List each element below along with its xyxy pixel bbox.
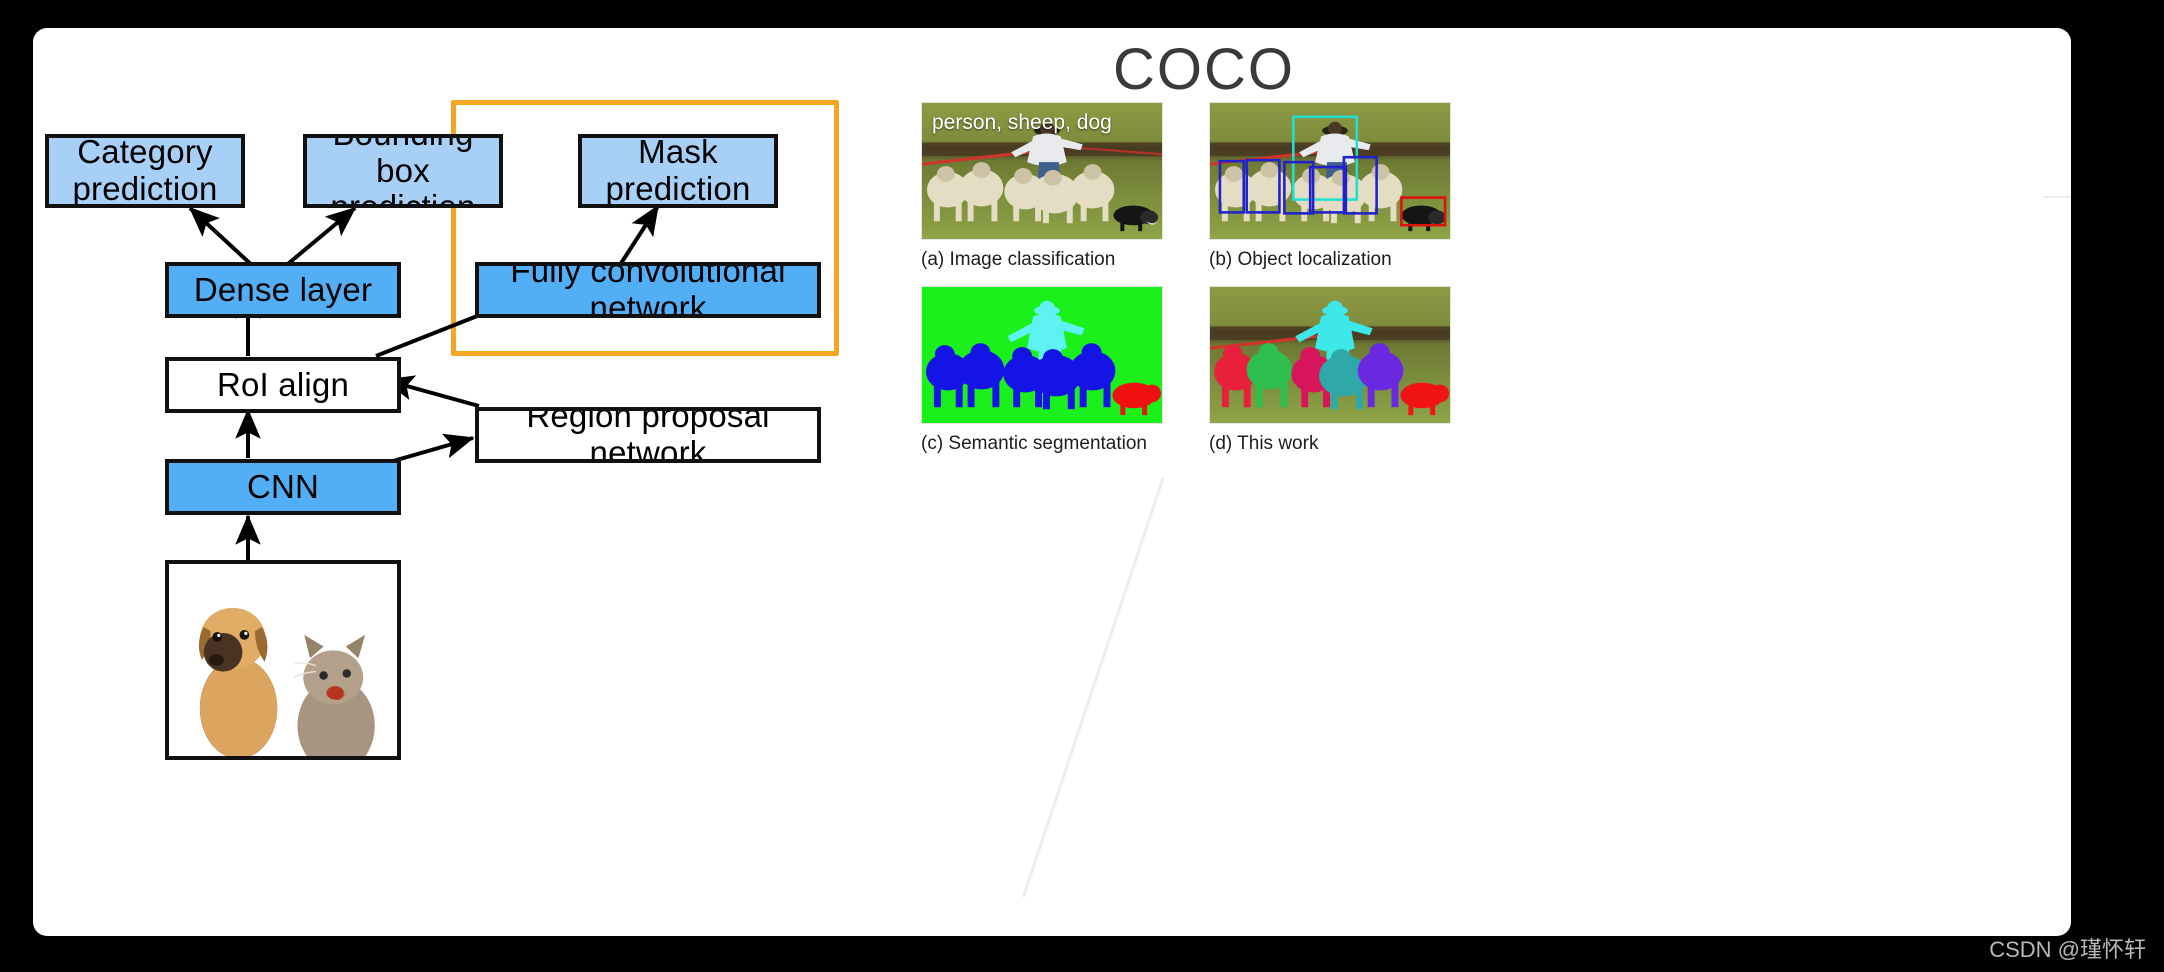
stray-line-horizontal [2043,196,2071,198]
panel-caption: (a) Image classification [921,249,1163,271]
screenshot-root: Category prediction Bounding box predict… [0,0,2164,972]
classification-tag-label: person, sheep, dog [932,111,1112,135]
panel-caption: (b) Object localization [1209,249,1451,271]
panel-caption: (c) Semantic segmentation [921,433,1163,455]
panel-semantic-segmentation[interactable]: (c) Semantic segmentation [921,286,1163,455]
node-label: Dense layer [194,272,372,309]
node-label: RoI align [217,367,349,404]
node-fully-convolutional-network[interactable]: Fully convolutional network [475,262,821,318]
panel-caption: (d) This work [1209,433,1451,455]
node-label: CNN [247,469,319,506]
panel-object-localization[interactable]: (b) Object localization [1209,102,1451,271]
node-region-proposal-network[interactable]: Region proposal network [475,407,821,463]
panel-image: person, sheep, dog [921,102,1163,240]
panel-image [1209,286,1451,424]
node-bounding-box-prediction[interactable]: Bounding box prediction [303,134,503,208]
csdn-watermark: CSDN @瑾怀轩 [1989,932,2146,964]
node-label: Region proposal network [479,407,817,463]
panel-image-classification[interactable]: person, sheep, dog (a) Image classificat… [921,102,1163,271]
dog-cat-photo [169,564,397,756]
panel-image [1209,102,1451,240]
node-mask-prediction[interactable]: Mask prediction [578,134,778,208]
panel-image [921,286,1163,424]
panel-this-work[interactable]: (d) This work [1209,286,1451,455]
node-roi-align[interactable]: RoI align [165,357,401,413]
node-dense-layer[interactable]: Dense layer [165,262,401,318]
node-label: Mask prediction [605,134,750,208]
input-image-dog-cat [165,560,401,760]
node-label: Fully convolutional network [479,262,817,318]
node-category-prediction[interactable]: Category prediction [45,134,245,208]
node-label: Bounding box prediction [307,134,499,208]
slide-canvas: Category prediction Bounding box predict… [33,28,2071,936]
node-label: Category prediction [72,134,217,208]
node-cnn[interactable]: CNN [165,459,401,515]
coco-title: COCO [1113,36,1295,103]
stray-line-diagonal [1023,478,1323,898]
